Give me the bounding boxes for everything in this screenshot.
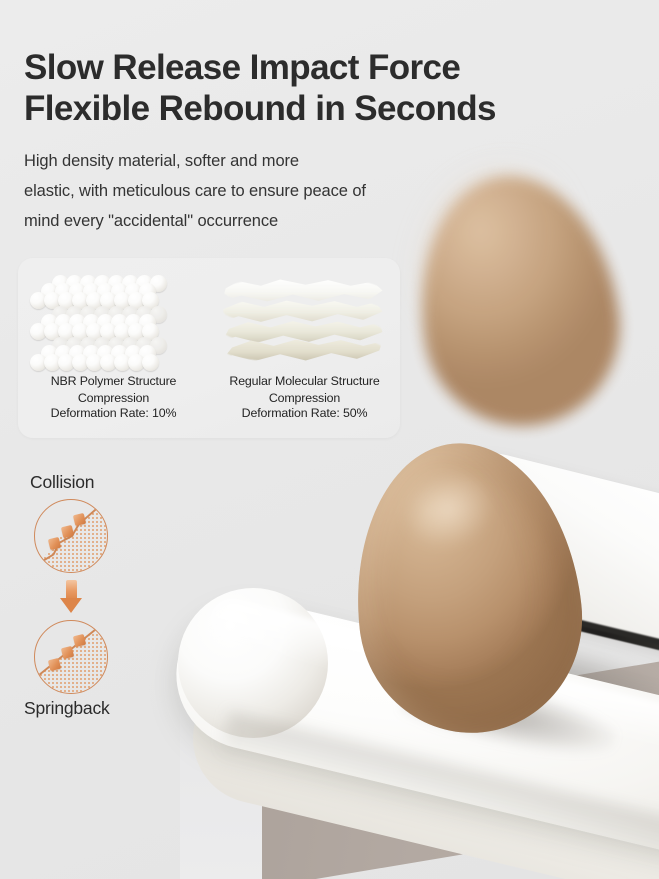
nbr-metric-label: Compression (22, 391, 205, 406)
springback-label: Springback (24, 698, 172, 719)
impact-sequence-diagram: Collision (22, 472, 172, 719)
springback-impact-chips (48, 635, 94, 675)
nbr-title: NBR Polymer Structure (22, 374, 205, 389)
subcopy-line-1: High density material, softer and more (24, 152, 299, 170)
arrow-down-icon (60, 580, 82, 614)
comparison-column-regular: Regular Molecular Structure Compression … (209, 258, 400, 438)
chip-2 (61, 646, 74, 659)
subheading-copy: High density material, softer and more e… (24, 146, 424, 236)
springback-flat-surface-icon (34, 620, 108, 694)
regular-molecular-flakes-icon (209, 270, 400, 374)
collision-impact-chips (48, 514, 94, 554)
arrow-head (60, 598, 82, 613)
regular-title: Regular Molecular Structure (213, 374, 396, 389)
headline-line-2: Flexible Rebound in Seconds (24, 89, 496, 128)
subcopy-line-2: elastic, with meticulous care to ensure … (24, 182, 366, 200)
collision-dented-surface-icon (34, 499, 108, 573)
promo-page: Slow Release Impact Force Flexible Rebou… (0, 0, 659, 879)
chip-2 (61, 525, 74, 538)
collision-label: Collision (30, 472, 172, 493)
content-layer: Slow Release Impact Force Flexible Rebou… (0, 0, 659, 879)
nbr-polymer-lattice-icon (18, 270, 209, 374)
chip-1 (73, 634, 86, 647)
regular-metric-label: Compression (213, 391, 396, 406)
subcopy-line-3: mind every "accidental" occurrence (24, 212, 278, 230)
nbr-caption: NBR Polymer Structure Compression Deform… (22, 374, 205, 421)
chip-1 (73, 513, 86, 526)
comparison-column-nbr: NBR Polymer Structure Compression Deform… (18, 258, 209, 438)
page-title: Slow Release Impact Force Flexible Rebou… (24, 47, 624, 129)
chip-3 (48, 537, 61, 550)
headline-line-1: Slow Release Impact Force (24, 48, 460, 87)
regular-metric-value: Deformation Rate: 50% (213, 406, 396, 421)
regular-caption: Regular Molecular Structure Compression … (213, 374, 396, 421)
structure-comparison-card: NBR Polymer Structure Compression Deform… (18, 258, 400, 438)
nbr-metric-value: Deformation Rate: 10% (22, 406, 205, 421)
chip-3 (48, 658, 61, 671)
arrow-stem (66, 580, 77, 600)
